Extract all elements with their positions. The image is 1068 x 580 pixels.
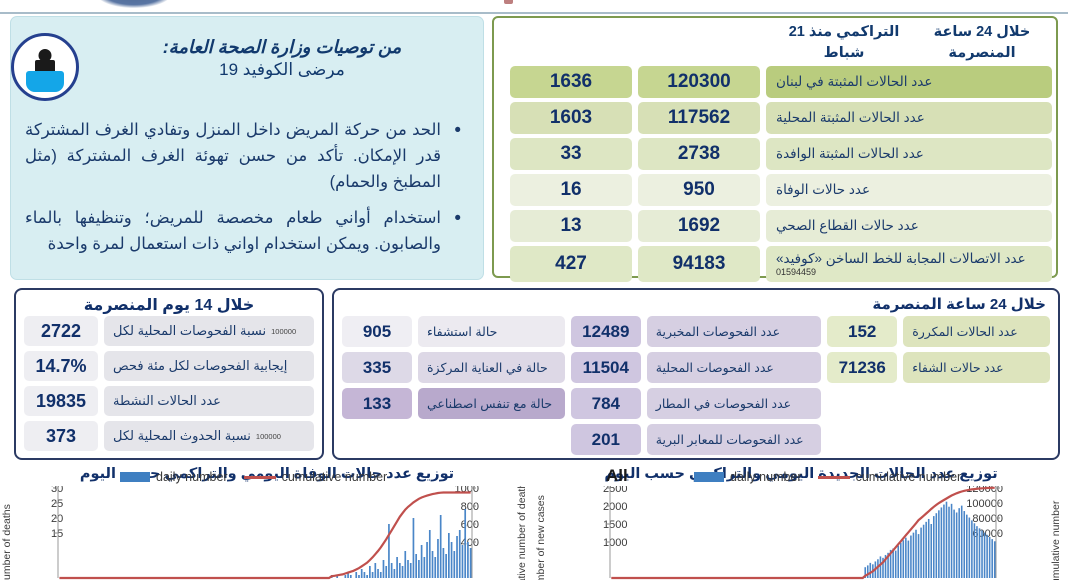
- svg-text:400: 400: [461, 537, 479, 549]
- legend-label: cumulative number: [856, 470, 962, 484]
- list-item: إيجابية الفحوصات لكل مئة فحص 14.7%: [24, 351, 314, 381]
- column-other-stats: عدد الحالات المكررة 152 عدد حالات الشفاء…: [827, 316, 1050, 455]
- deaths-chart: توزيع عدد حالات الوفاة اليومي والتراكمي …: [0, 464, 534, 580]
- last-14-days-panel: خلال 14 يوم المنصرمة 100000 نسبة الفحوصا…: [14, 288, 324, 460]
- secondary-logo-icon: [504, 0, 513, 4]
- recommendations-panel: من توصيات وزارة الصحة العامة: مرضى الكوف…: [10, 16, 484, 280]
- row-label: عدد الحالات المكررة: [903, 316, 1050, 347]
- legend-item-daily: daily number: [694, 470, 802, 484]
- row-value: 2722: [24, 316, 98, 346]
- svg-text:25: 25: [51, 498, 63, 510]
- svg-text:15: 15: [51, 528, 63, 540]
- row-label-text: عدد الحالات المثبتة الوافدة: [776, 146, 924, 162]
- summary-table-rows: عدد الحالات المثبتة في لبنان 120300 1636…: [498, 66, 1052, 286]
- row-label: 100000 نسبة الحدوث المحلية لكل: [104, 421, 314, 451]
- table-row: عدد الحالات المثبتة الوافدة 2738 33: [498, 138, 1052, 170]
- header-divider: [0, 12, 1068, 14]
- row-last24-value: 33: [510, 138, 632, 170]
- list-item: عدد الفحوصات المحلية 11504: [571, 352, 821, 383]
- last-24-hours-columns: عدد الحالات المكررة 152 عدد حالات الشفاء…: [342, 316, 1050, 455]
- row-label: عدد الفحوصات للمعابر البرية: [647, 424, 821, 455]
- recommendations-title: من توصيات وزارة الصحة العامة: مرضى الكوف…: [107, 35, 457, 82]
- row-label-text: نسبة الحدوث المحلية لكل: [113, 428, 251, 444]
- list-item: استخدام أواني طعام مخصصة للمريض؛ وتنظيفه…: [25, 205, 467, 257]
- row-label-text: عدد الحالات المثبتة في لبنان: [776, 74, 932, 90]
- icon-tub: [26, 71, 64, 92]
- chart-plot-area-1: 25002000150010001200001000008000060000nu…: [534, 486, 1068, 580]
- row-label: عدد الاتصالات المجابة للخط الساخن «كوفيد…: [766, 246, 1052, 282]
- legend-item-daily: daily number: [120, 470, 228, 484]
- row-value: 133: [342, 388, 412, 419]
- row-cumulative-value: 1692: [638, 210, 760, 242]
- svg-text:1000: 1000: [455, 486, 479, 495]
- row-value: 905: [342, 316, 412, 347]
- column-header-cumulative: التراكمي منذ 21 شباط: [780, 22, 908, 64]
- row-label: عدد الفحوصات في المطار: [647, 388, 821, 419]
- row-last24-value: 1636: [510, 66, 632, 98]
- list-item: عدد الفحوصات للمعابر البرية 201: [571, 424, 821, 455]
- row-label-sub: 100000: [271, 327, 296, 336]
- table-row: عدد حالات الوفاة 950 16: [498, 174, 1052, 206]
- svg-text:600: 600: [461, 519, 479, 531]
- svg-text:number of deaths: number of deaths: [1, 504, 13, 580]
- list-item: عدد الحالات النشطة 19835: [24, 386, 314, 416]
- row-label-text: عدد الحالات المثبتة المحلية: [776, 110, 925, 126]
- ministry-logo-icon: [96, 0, 172, 8]
- row-value: 152: [827, 316, 897, 347]
- row-label: عدد حالات الوفاة: [766, 174, 1052, 206]
- legend-bar-swatch: [694, 472, 724, 482]
- legend-label: daily number: [730, 470, 802, 484]
- row-label-text: عدد الحالات النشطة: [113, 393, 221, 409]
- row-cumulative-value: 2738: [638, 138, 760, 170]
- recommendations-title-line1: من توصيات وزارة الصحة العامة:: [107, 35, 457, 59]
- infographic-page: من توصيات وزارة الصحة العامة: مرضى الكوف…: [0, 0, 1068, 580]
- legend-item-cumulative: cumulative number: [818, 470, 962, 484]
- row-cumulative-value: 120300: [638, 66, 760, 98]
- row-label: عدد الحالات المثبتة المحلية: [766, 102, 1052, 134]
- table-row: عدد الحالات المثبتة المحلية 117562 1603: [498, 102, 1052, 134]
- chart-badge-all: All: [606, 466, 628, 486]
- recommendations-title-line2: مرضى الكوفيد 19: [107, 59, 457, 82]
- row-label: عدد حالات الشفاء: [903, 352, 1050, 383]
- legend-bar-swatch: [120, 472, 150, 482]
- row-label: إيجابية الفحوصات لكل مئة فحص: [104, 351, 314, 381]
- svg-text:1000: 1000: [603, 537, 627, 549]
- row-label-text: إيجابية الفحوصات لكل مئة فحص: [113, 358, 287, 374]
- hotline-number: 01594459: [776, 267, 816, 277]
- svg-text:1500: 1500: [603, 519, 627, 531]
- svg-text:2000: 2000: [603, 501, 627, 513]
- svg-text:cumulative number: cumulative number: [1050, 500, 1062, 580]
- legend-label: cumulative number: [282, 470, 388, 484]
- list-item: حالة مع تنفس اصطناعي 133: [342, 388, 565, 419]
- row-value: 335: [342, 352, 412, 383]
- legend-line-swatch: [818, 476, 850, 479]
- list-item: 100000 نسبة الحدوث المحلية لكل 373: [24, 421, 314, 451]
- row-label-text: عدد حالات الوفاة: [776, 182, 870, 198]
- row-label-text: عدد حالات القطاع الصحي: [776, 218, 919, 234]
- row-label: عدد الحالات المثبتة الوافدة: [766, 138, 1052, 170]
- row-label: عدد الفحوصات المحلية: [647, 352, 821, 383]
- row-value: 19835: [24, 386, 98, 416]
- chart-plot-area-0: 302520151000800600400number of deathscum…: [0, 486, 534, 580]
- row-label-text: عدد الاتصالات المجابة للخط الساخن «كوفيد…: [776, 251, 1026, 267]
- svg-text:30: 30: [51, 486, 63, 495]
- row-value: 11504: [571, 352, 641, 383]
- table-row: عدد حالات القطاع الصحي 1692 13: [498, 210, 1052, 242]
- last-24-hours-title: خلال 24 ساعة المنصرمة: [872, 295, 1046, 313]
- chart-legend: daily number cumulative number: [694, 470, 961, 484]
- list-item: عدد الحالات المكررة 152: [827, 316, 1050, 347]
- row-value: 201: [571, 424, 641, 455]
- row-cumulative-value: 94183: [638, 246, 760, 282]
- list-item: 100000 نسبة الفحوصات المحلية لكل 2722: [24, 316, 314, 346]
- recommendations-list: الحد من حركة المريض داخل المنزل وتفادي ا…: [25, 117, 467, 267]
- last-14-days-rows: 100000 نسبة الفحوصات المحلية لكل 2722 إي…: [24, 316, 314, 456]
- row-value: 784: [571, 388, 641, 419]
- row-label: عدد الفحوصات المخبرية: [647, 316, 821, 347]
- list-item: حالة في العناية المركزة 335: [342, 352, 565, 383]
- svg-text:2500: 2500: [603, 486, 627, 495]
- row-value: 373: [24, 421, 98, 451]
- row-last24-value: 1603: [510, 102, 632, 134]
- svg-text:100000: 100000: [966, 498, 1003, 510]
- list-item: عدد حالات الشفاء 71236: [827, 352, 1050, 383]
- row-label-sub: 100000: [256, 432, 281, 441]
- svg-text:80000: 80000: [972, 513, 1003, 525]
- legend-label: daily number: [156, 470, 228, 484]
- list-item: حالة استشفاء 905: [342, 316, 565, 347]
- row-last24-value: 427: [510, 246, 632, 282]
- row-label: عدد الحالات المثبتة في لبنان: [766, 66, 1052, 98]
- list-item: الحد من حركة المريض داخل المنزل وتفادي ا…: [25, 117, 467, 195]
- cases-chart: توزيع عدد الحالات الجديدة اليومي والتراك…: [534, 464, 1068, 580]
- row-label: عدد الحالات النشطة: [104, 386, 314, 416]
- row-cumulative-value: 950: [638, 174, 760, 206]
- list-item: عدد الفحوصات المخبرية 12489: [571, 316, 821, 347]
- row-value: 12489: [571, 316, 641, 347]
- row-last24-value: 13: [510, 210, 632, 242]
- table-row: عدد الاتصالات المجابة للخط الساخن «كوفيد…: [498, 246, 1052, 282]
- svg-text:number of new cases: number of new cases: [535, 495, 547, 580]
- svg-text:800: 800: [461, 501, 479, 513]
- chart-legend: daily number cumulative number: [120, 470, 387, 484]
- row-value: 71236: [827, 352, 897, 383]
- row-cumulative-value: 117562: [638, 102, 760, 134]
- row-label: حالة استشفاء: [418, 316, 565, 347]
- legend-line-swatch: [244, 476, 276, 479]
- last-14-days-title: خلال 14 يوم المنصرمة: [28, 295, 310, 315]
- legend-item-cumulative: cumulative number: [244, 470, 388, 484]
- last-24-hours-panel: خلال 24 ساعة المنصرمة عدد الحالات المكرر…: [332, 288, 1060, 460]
- svg-text:cumulative number of deaths: cumulative number of deaths: [516, 486, 528, 580]
- row-label: حالة مع تنفس اصطناعي: [418, 388, 565, 419]
- row-label: عدد حالات القطاع الصحي: [766, 210, 1052, 242]
- table-row: عدد الحالات المثبتة في لبنان 120300 1636: [498, 66, 1052, 98]
- summary-table-header: خلال 24 ساعة المنصرمة التراكمي منذ 21 شب…: [494, 22, 1056, 70]
- summary-table-panel: خلال 24 ساعة المنصرمة التراكمي منذ 21 شب…: [492, 16, 1058, 278]
- row-last24-value: 16: [510, 174, 632, 206]
- column-hospital-status: حالة استشفاء 905 حالة في العناية المركزة…: [342, 316, 565, 455]
- row-label: حالة في العناية المركزة: [418, 352, 565, 383]
- list-item: عدد الفحوصات في المطار 784: [571, 388, 821, 419]
- row-label: 100000 نسبة الفحوصات المحلية لكل: [104, 316, 314, 346]
- column-header-last-24h: خلال 24 ساعة المنصرمة: [918, 22, 1046, 64]
- column-tests-stats: عدد الفحوصات المخبرية 12489 عدد الفحوصات…: [571, 316, 821, 455]
- row-label-text: نسبة الفحوصات المحلية لكل: [113, 323, 266, 339]
- svg-text:20: 20: [51, 513, 63, 525]
- row-value: 14.7%: [24, 351, 98, 381]
- person-in-isolation-icon: [11, 33, 79, 101]
